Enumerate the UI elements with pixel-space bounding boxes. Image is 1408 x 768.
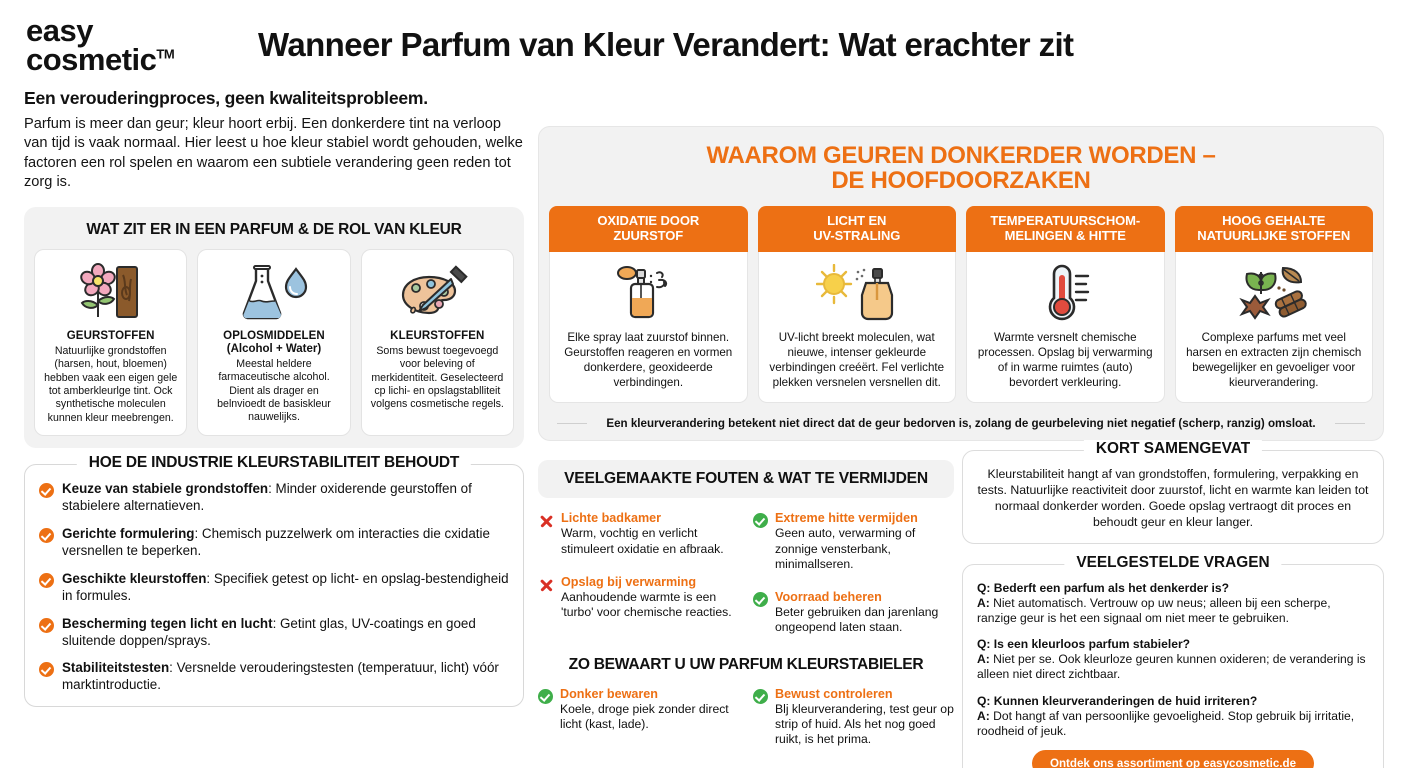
storage-right-col: Bewust controleren Blj kleurverandering,… bbox=[753, 687, 954, 748]
list-item: Bescherming tegen licht en lucht: Getint… bbox=[39, 616, 509, 650]
ingredient-card-name: GEURSTOFFEN bbox=[42, 330, 179, 342]
why-card-header: TEMPERATUURSCHOM- MELINGEN & HITTE bbox=[966, 206, 1165, 252]
check-circle-icon bbox=[39, 483, 54, 498]
tip-title: Voorraad beheren bbox=[775, 590, 954, 604]
tip-title: Lichte badkamer bbox=[561, 511, 739, 525]
industry-list: Keuze van stabiele grondstoffen: Minder … bbox=[39, 481, 509, 694]
why-title-line1: WAAROM GEUREN DONKERDER WORDEN – bbox=[549, 143, 1373, 168]
check-circle-icon bbox=[538, 689, 553, 704]
infographic-page: easy cosmeticTM Wanneer Parfum van Kleur… bbox=[0, 0, 1408, 768]
tip-title: Bewust controleren bbox=[775, 687, 954, 701]
faq-panel: VEELGESTELDE VRAGEN Q: Bederft een parfu… bbox=[962, 564, 1384, 768]
summary-panel: KORT SAMENGEVAT Kleurstabiliteit hangt a… bbox=[962, 450, 1384, 544]
list-item: Lichte badkamer Warm, vochtig en verlich… bbox=[538, 511, 739, 557]
intro-title: Een verouderingproces, geen kwaliteitspr… bbox=[24, 88, 524, 109]
list-item: Opslag bij verwarming Aanhoudende warmte… bbox=[538, 575, 739, 621]
check-circle-icon bbox=[39, 662, 54, 677]
why-card-head-line2: ZUURSTOF bbox=[553, 229, 744, 244]
intro-body: Parfum is meer dan geur; kleur hoort erb… bbox=[24, 115, 524, 193]
faq-answer-label: A: bbox=[977, 709, 990, 723]
brand-logo: easy cosmeticTM bbox=[26, 12, 258, 75]
brand-line2: cosmetic bbox=[26, 42, 156, 77]
faq-answer: A: Niet per se. Ook kleurloze geuren kun… bbox=[977, 652, 1369, 682]
why-card-text: Complexe parfums met veel harsen en extr… bbox=[1184, 330, 1365, 390]
tip-desc: Beter gebruiken dan jarenlang ongeopend … bbox=[775, 605, 954, 635]
why-card-body: Complexe parfums met veel harsen en extr… bbox=[1175, 252, 1374, 403]
why-panel: WAAROM GEUREN DONKERDER WORDEN – DE HOOF… bbox=[538, 126, 1384, 441]
sun-perfume-icon bbox=[767, 262, 948, 324]
ingredient-card: OPLOSMIDDELEN (Alcohol + Water) Meestal … bbox=[197, 249, 350, 437]
industry-title: HOE DE INDUSTRIE KLEURSTABILITEIT BEHOUD… bbox=[77, 454, 471, 472]
trademark-symbol: TM bbox=[156, 47, 174, 62]
list-item: Gerichte formulering: Chemisch puzzelwer… bbox=[39, 526, 509, 560]
thermometer-icon bbox=[975, 262, 1156, 324]
check-circle-icon bbox=[39, 573, 54, 588]
flower-wood-icon bbox=[42, 260, 179, 326]
page-title: Wanneer Parfum van Kleur Verandert: Wat … bbox=[258, 12, 1073, 64]
why-card-text: UV-licht breekt moleculen, wat nieuwe, i… bbox=[767, 330, 948, 390]
check-circle-icon bbox=[753, 513, 768, 528]
why-card-text: Elke spray laat zuurstof binnen. Geursto… bbox=[558, 330, 739, 390]
faq-answer-text: Dot hangt af van persoonlijke gevoelighe… bbox=[977, 709, 1354, 738]
storage-left-col: Donker bewaren Koele, droge piek zonder … bbox=[538, 687, 739, 748]
list-item-lead: Bescherming tegen licht en lucht bbox=[62, 616, 273, 631]
summary-title: KORT SAMENGEVAT bbox=[1084, 440, 1262, 458]
why-card-text: Warmte versnelt chemische processen. Ops… bbox=[975, 330, 1156, 390]
tip-desc: Koele, droge piek zonder direct licht (k… bbox=[560, 702, 739, 732]
list-item: Stabiliteitstesten: Versnelde verouderin… bbox=[39, 660, 509, 694]
list-item-lead: Stabiliteitstesten bbox=[62, 660, 169, 675]
tip-desc: Geen auto, verwarming of zonnige venster… bbox=[775, 526, 954, 571]
why-card-body: UV-licht breekt moleculen, wat nieuwe, i… bbox=[758, 252, 957, 403]
tip-title: Opslag bij verwarming bbox=[561, 575, 739, 589]
storage-title: ZO BEWAART U UW PARFUM KLEURSTABIELER bbox=[538, 656, 954, 674]
flask-droplet-icon bbox=[205, 260, 342, 326]
cross-icon bbox=[538, 577, 554, 593]
why-cards: OXIDATIE DOOR ZUURSTOF bbox=[549, 206, 1373, 403]
why-card-head-line1: HOOG GEHALTE bbox=[1179, 214, 1370, 229]
why-card: TEMPERATUURSCHOM- MELINGEN & HITTE bbox=[966, 206, 1165, 403]
ingredients-panel: WAT ZIT ER IN EEN PARFUM & DE ROL VAN KL… bbox=[24, 207, 524, 449]
page-header: easy cosmeticTM Wanneer Parfum van Kleur… bbox=[0, 0, 1408, 86]
storage-grid: Donker bewaren Koele, droge piek zonder … bbox=[538, 687, 954, 748]
mistakes-title: VEELGEMAAKTE FOUTEN & WAT TE VERMIJDEN bbox=[538, 460, 954, 498]
why-panel-title: WAAROM GEUREN DONKERDER WORDEN – DE HOOF… bbox=[549, 137, 1373, 206]
check-circle-icon bbox=[39, 528, 54, 543]
list-item: Bewust controleren Blj kleurverandering,… bbox=[753, 687, 954, 748]
why-card-body: Elke spray laat zuurstof binnen. Geursto… bbox=[549, 252, 748, 403]
mistakes-right-col: Extreme hitte vermijden Geen auto, verwa… bbox=[753, 511, 954, 636]
faq-item: Q: Kunnen kleurveranderingen de huid irr… bbox=[977, 694, 1369, 739]
mistakes-left-col: Lichte badkamer Warm, vochtig en verlich… bbox=[538, 511, 739, 636]
ingredient-card-sub: (Alcohol + Water) bbox=[205, 343, 342, 355]
faq-answer-label: A: bbox=[977, 652, 990, 666]
list-item: Geschikte kleurstoffen: Specifiek getest… bbox=[39, 571, 509, 605]
faq-answer: A: Niet automatisch. Vertrouw op uw neus… bbox=[977, 596, 1369, 626]
ingredients-cards: GEURSTOFFEN Natuurlijke grondstoffen (ha… bbox=[34, 249, 514, 437]
why-card-header: HOOG GEHALTE NATUURLIJKE STOFFEN bbox=[1175, 206, 1374, 252]
why-card-head-line2: NATUURLIJKE STOFFEN bbox=[1179, 229, 1370, 244]
tip-desc: Warm, vochtig en verlicht stimuleert oxi… bbox=[561, 526, 739, 556]
list-item: Keuze van stabiele grondstoffen: Minder … bbox=[39, 481, 509, 515]
why-card: OXIDATIE DOOR ZUURSTOF bbox=[549, 206, 748, 403]
ingredients-title: WAT ZIT ER IN EEN PARFUM & DE ROL VAN KL… bbox=[34, 215, 514, 249]
ingredient-card: GEURSTOFFEN Natuurlijke grondstoffen (ha… bbox=[34, 249, 187, 437]
tip-desc: Aanhoudende warmte is een 'turbo' voor c… bbox=[561, 590, 739, 620]
list-item: Extreme hitte vermijden Geen auto, verwa… bbox=[753, 511, 954, 572]
list-item: Voorraad beheren Beter gebruiken dan jar… bbox=[753, 590, 954, 636]
check-circle-icon bbox=[39, 618, 54, 633]
ingredient-card-name: OPLOSMIDDELEN bbox=[205, 330, 342, 342]
list-item-lead: Keuze van stabiele grondstoffen bbox=[62, 481, 268, 496]
why-card-head-line2: UV-STRALING bbox=[762, 229, 953, 244]
why-card: LICHT EN UV-STRALING bbox=[758, 206, 957, 403]
check-circle-icon bbox=[753, 592, 768, 607]
faq-item: Q: Is een kleurloos parfum stabieler? A:… bbox=[977, 637, 1369, 682]
ingredient-card-body: Natuurlijke grondstoffen (harsen, hout, … bbox=[42, 345, 179, 426]
why-title-line2: DE HOOFDOORZAKEN bbox=[549, 168, 1373, 193]
why-card-header: LICHT EN UV-STRALING bbox=[758, 206, 957, 252]
list-item: Donker bewaren Koele, droge piek zonder … bbox=[538, 687, 739, 733]
tip-title: Donker bewaren bbox=[560, 687, 739, 701]
summary-body: Kleurstabiliteit hangt af van grondstoff… bbox=[977, 467, 1369, 531]
faq-question: Q: Bederft een parfum als het denkerder … bbox=[977, 581, 1369, 596]
cross-icon bbox=[538, 513, 554, 529]
why-card: HOOG GEHALTE NATUURLIJKE STOFFEN bbox=[1175, 206, 1374, 403]
tip-desc: Blj kleurverandering, test geur op strip… bbox=[775, 702, 954, 747]
faq-answer: A: Dot hangt af van persoonlijke gevoeli… bbox=[977, 709, 1369, 739]
shop-cta-button[interactable]: Ontdek ons assortiment op easycosmetic.d… bbox=[1032, 750, 1314, 768]
mistakes-column: VEELGEMAAKTE FOUTEN & WAT TE VERMIJDEN L… bbox=[538, 460, 954, 747]
faq-answer-label: A: bbox=[977, 596, 990, 610]
ingredient-card-body: Soms bewust toegevoegd voor beleving of … bbox=[369, 345, 506, 412]
list-item-lead: Geschikte kleurstoffen bbox=[62, 571, 206, 586]
faq-answer-text: Niet per se. Ook kleurloze geuren kunnen… bbox=[977, 652, 1366, 681]
faq-question: Q: Is een kleurloos parfum stabieler? bbox=[977, 637, 1369, 652]
why-card-head-line1: OXIDATIE DOOR bbox=[553, 214, 744, 229]
ingredient-card-body: Meestal heldere farmaceutische alcohol. … bbox=[205, 358, 342, 425]
why-card-head-line2: MELINGEN & HITTE bbox=[970, 229, 1161, 244]
check-circle-icon bbox=[753, 689, 768, 704]
right-column: KORT SAMENGEVAT Kleurstabiliteit hangt a… bbox=[962, 450, 1384, 768]
left-column: Een verouderingproces, geen kwaliteitspr… bbox=[24, 88, 524, 707]
spray-bottle-icon bbox=[558, 262, 739, 324]
ingredient-card: KLEURSTOFFEN Soms bewust toegevoegd voor… bbox=[361, 249, 514, 437]
why-card-head-line1: LICHT EN bbox=[762, 214, 953, 229]
why-panel-note: Een kleurverandering betekent niet direc… bbox=[549, 417, 1373, 430]
faq-question: Q: Kunnen kleurveranderingen de huid irr… bbox=[977, 694, 1369, 709]
why-card-body: Warmte versnelt chemische processen. Ops… bbox=[966, 252, 1165, 403]
mistakes-grid: Lichte badkamer Warm, vochtig en verlich… bbox=[538, 511, 954, 636]
cta-container: Ontdek ons assortiment op easycosmetic.d… bbox=[977, 750, 1369, 768]
spices-leaves-icon bbox=[1184, 262, 1365, 324]
faq-title: VEELGESTELDE VRAGEN bbox=[1064, 554, 1281, 572]
why-card-head-line1: TEMPERATUURSCHOM- bbox=[970, 214, 1161, 229]
why-card-header: OXIDATIE DOOR ZUURSTOF bbox=[549, 206, 748, 252]
ingredient-card-name: KLEURSTOFFEN bbox=[369, 330, 506, 342]
palette-dropper-icon bbox=[369, 260, 506, 326]
faq-item: Q: Bederft een parfum als het denkerder … bbox=[977, 581, 1369, 626]
industry-panel: HOE DE INDUSTRIE KLEURSTABILITEIT BEHOUD… bbox=[24, 464, 524, 707]
faq-answer-text: Niet automatisch. Vertrouw op uw neus; a… bbox=[977, 596, 1331, 625]
list-item-lead: Gerichte formulering bbox=[62, 526, 194, 541]
tip-title: Extreme hitte vermijden bbox=[775, 511, 954, 525]
